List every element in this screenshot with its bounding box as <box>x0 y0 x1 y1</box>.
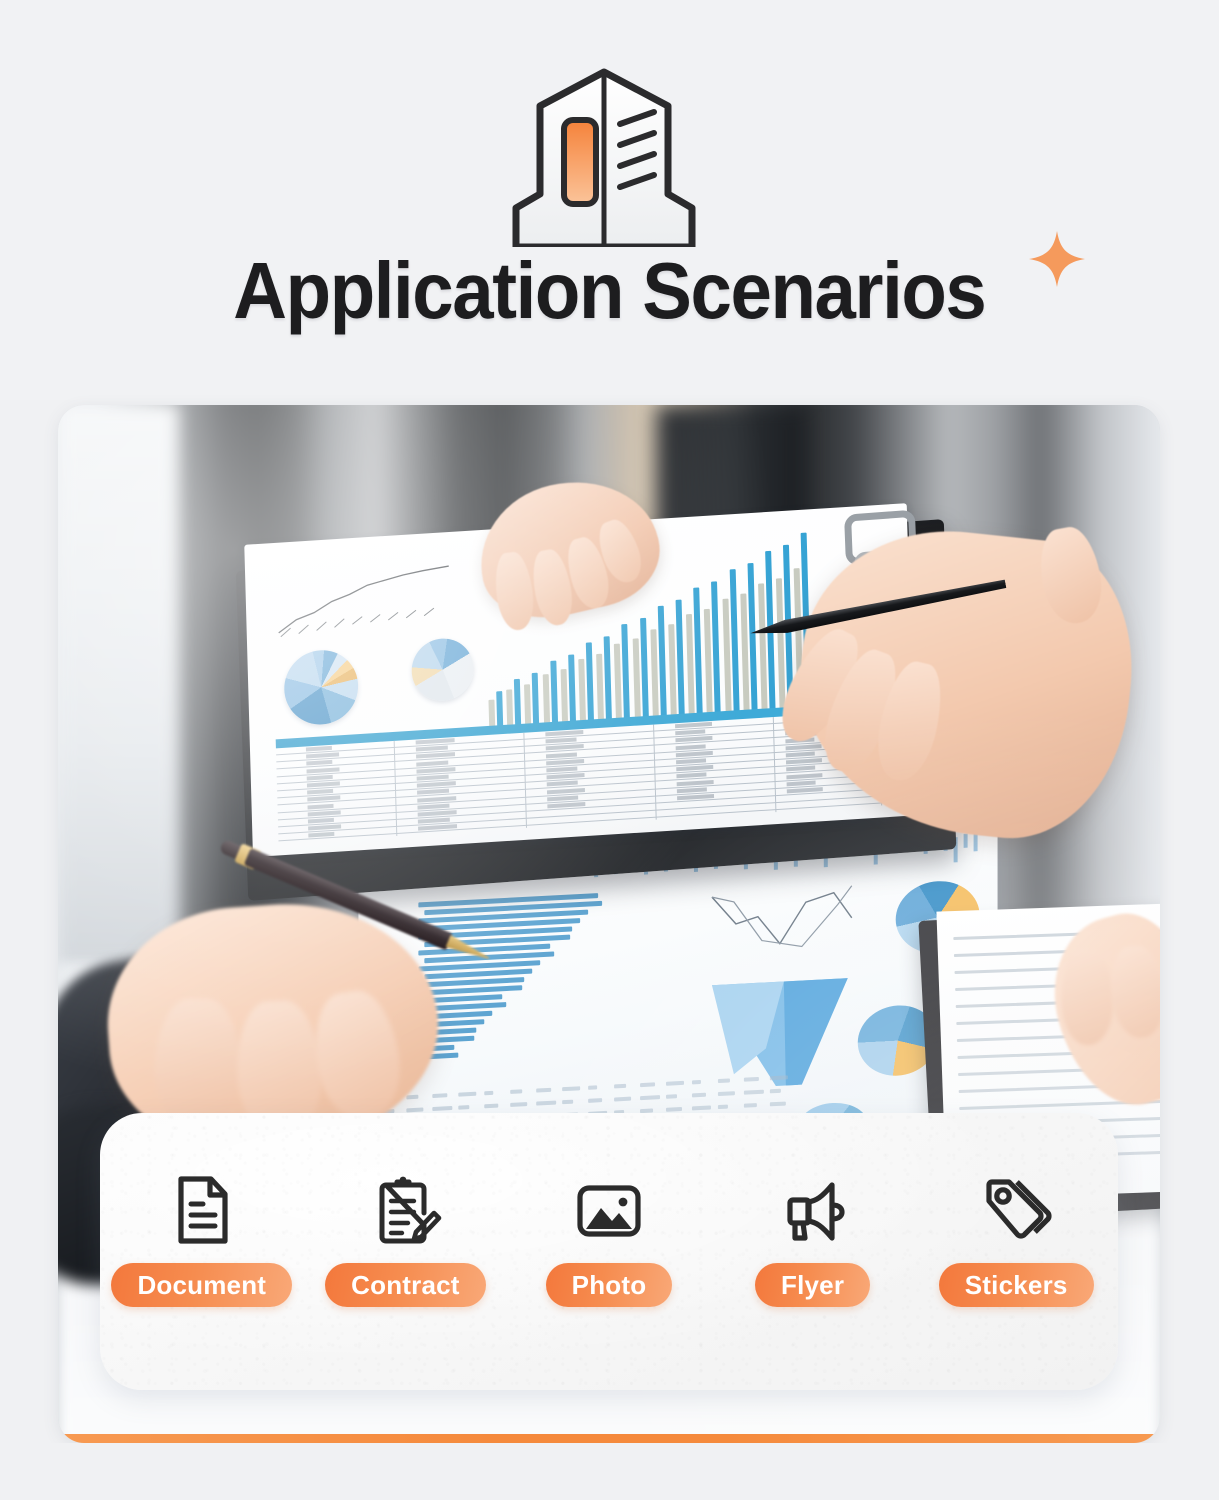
text-line <box>484 1104 498 1109</box>
table-cell <box>787 780 816 786</box>
document-icon <box>163 1171 241 1249</box>
table-cell <box>675 722 712 728</box>
text-line <box>562 1086 580 1091</box>
table-cell <box>546 766 577 772</box>
table-cell <box>308 818 334 824</box>
text-line <box>588 1085 597 1089</box>
scenario-item-photo[interactable]: Photo <box>514 1171 704 1307</box>
table-cell <box>676 765 713 771</box>
text-line <box>588 1098 602 1103</box>
text-line <box>458 1105 469 1110</box>
sparkle-icon <box>1026 228 1088 290</box>
text-line <box>640 1082 655 1087</box>
table-cell <box>416 767 455 773</box>
text-line <box>744 1090 764 1095</box>
table-cell <box>307 796 340 802</box>
table-cell <box>547 802 585 808</box>
scenario-label-card: Document Contract <box>100 1113 1118 1390</box>
table-cell <box>545 730 583 736</box>
scenario-item-stickers[interactable]: Stickers <box>921 1171 1111 1307</box>
text-line <box>666 1094 677 1099</box>
line-chart <box>273 560 455 643</box>
text-line <box>536 1101 556 1106</box>
text-line <box>666 1107 682 1112</box>
table-cell <box>417 789 449 795</box>
table-cell <box>308 810 341 816</box>
table-cell <box>546 759 584 765</box>
text-line <box>640 1095 660 1100</box>
table-cell <box>676 773 706 779</box>
table-cell <box>676 744 706 750</box>
table-cell <box>675 730 705 736</box>
table-cell <box>786 744 822 750</box>
scenario-label-flyer: Flyer <box>755 1263 870 1307</box>
text-line <box>666 1081 684 1086</box>
table-cell <box>308 825 341 831</box>
table-cell <box>418 818 450 824</box>
table-cell <box>307 781 340 787</box>
text-line <box>458 1092 476 1097</box>
table-cell <box>307 775 333 781</box>
table-cell <box>677 794 714 800</box>
table-cell <box>417 803 449 809</box>
table-cell <box>675 736 712 742</box>
scenario-item-contract[interactable]: Contract <box>310 1171 500 1307</box>
table-cell <box>308 832 334 838</box>
table-cell <box>418 825 457 831</box>
image-icon <box>570 1171 648 1249</box>
scenario-item-flyer[interactable]: Flyer <box>718 1171 908 1307</box>
text-line <box>432 1106 452 1111</box>
table-cell <box>547 773 585 779</box>
table-cell <box>546 752 577 758</box>
text-line <box>692 1093 706 1098</box>
text-line <box>718 1078 730 1083</box>
text-line <box>744 1077 759 1082</box>
tags-icon <box>977 1171 1055 1249</box>
table-cell <box>786 758 822 764</box>
text-line <box>432 1093 447 1098</box>
scenario-label-contract: Contract <box>325 1263 486 1307</box>
table-cell <box>786 773 822 779</box>
text-line <box>406 1107 423 1112</box>
text-line <box>536 1088 551 1093</box>
text-line <box>692 1080 701 1084</box>
table-cell <box>416 746 448 752</box>
text-line <box>718 1105 728 1110</box>
horizontal-bar-chart <box>422 888 692 1062</box>
table-cell <box>787 787 823 793</box>
text-line <box>744 1103 757 1108</box>
text-line <box>406 1095 418 1100</box>
text-line <box>614 1084 626 1089</box>
table-cell <box>786 766 815 772</box>
clipboard-pencil-icon <box>366 1171 444 1249</box>
table-cell <box>418 810 457 816</box>
text-line <box>770 1089 781 1094</box>
table-cell <box>676 758 706 764</box>
table-cell <box>677 787 707 793</box>
pie-chart-left <box>283 648 359 727</box>
table-cell <box>417 775 449 781</box>
building-tower-icon <box>486 62 722 247</box>
table-cell <box>547 781 578 787</box>
table-cell <box>306 760 332 766</box>
scenario-label-stickers: Stickers <box>939 1263 1094 1307</box>
table-cell <box>416 760 448 766</box>
window-light <box>58 405 178 965</box>
tick-mark <box>964 834 968 848</box>
text-line <box>510 1089 522 1094</box>
table-cell <box>417 781 456 787</box>
bottom-strip <box>0 1443 1219 1500</box>
table-cell <box>416 738 455 744</box>
scenario-label-row: Document Contract <box>100 1171 1118 1351</box>
table-cell <box>546 738 577 744</box>
scenario-label-photo: Photo <box>546 1263 673 1307</box>
text-line <box>614 1097 631 1102</box>
mini-line-chart <box>706 878 856 966</box>
page-header: Application Scenarios <box>0 0 1219 400</box>
table-cell <box>306 767 339 773</box>
table-cell <box>417 796 456 802</box>
text-line <box>692 1105 711 1110</box>
horizontal-bar <box>424 985 522 995</box>
table-cell <box>306 753 339 759</box>
scenario-item-document[interactable]: Document <box>107 1171 297 1307</box>
text-line <box>510 1102 527 1107</box>
table-cell <box>416 753 455 759</box>
table-cell <box>786 752 815 758</box>
table-cell <box>547 788 585 794</box>
table-cell <box>676 751 713 757</box>
table-cell <box>677 780 714 786</box>
text-line <box>484 1091 493 1095</box>
table-cell <box>307 789 333 795</box>
pie-chart-right <box>411 637 475 703</box>
megaphone-icon <box>774 1171 852 1249</box>
text-line <box>770 1102 786 1107</box>
scenario-label-document: Document <box>111 1263 292 1307</box>
page-title: Application Scenarios <box>233 251 985 331</box>
table-cell <box>308 803 334 809</box>
text-line <box>562 1100 573 1105</box>
text-line <box>718 1091 735 1096</box>
table-cell <box>306 746 332 752</box>
table-cell <box>546 744 584 750</box>
table-cell <box>547 795 578 801</box>
